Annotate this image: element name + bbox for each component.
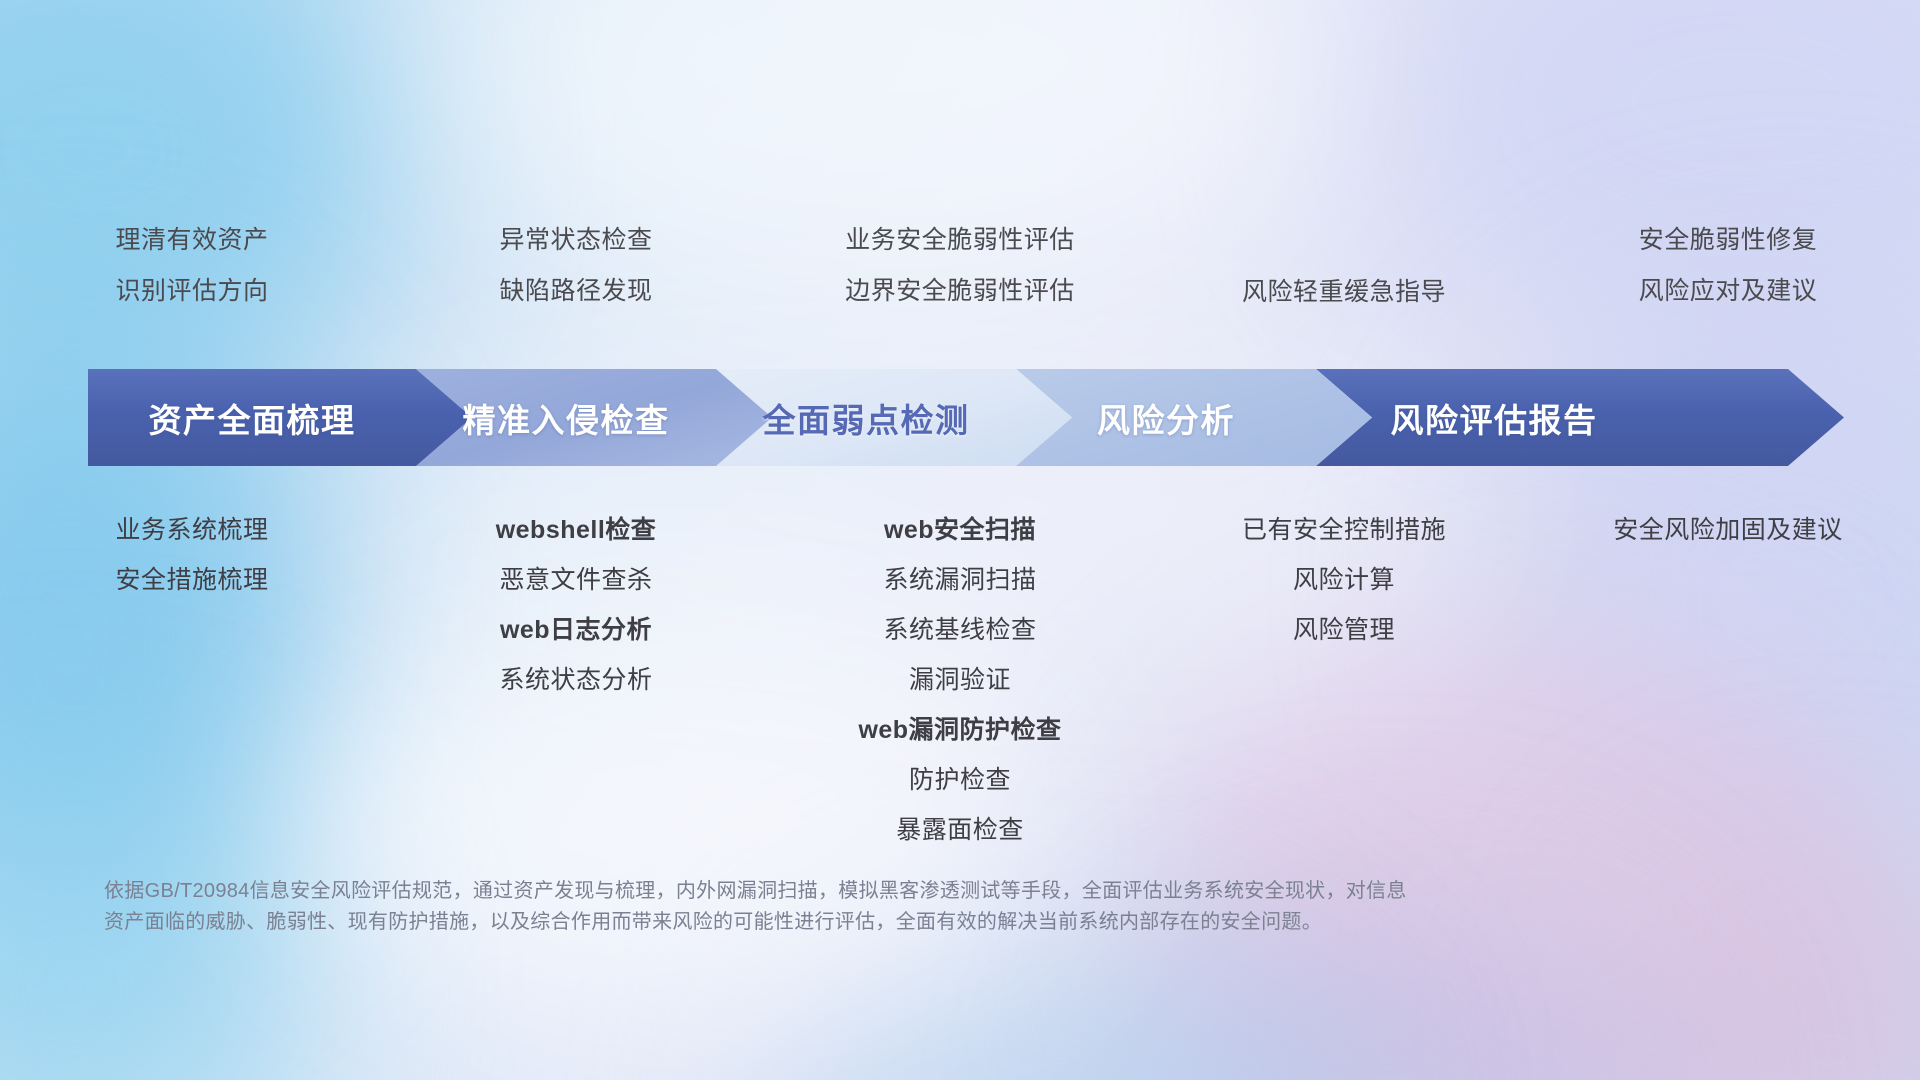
list-item: 安全风险加固及建议 [1613,518,1843,543]
footer-line-1: 依据GB/T20984信息安全风险评估规范，通过资产发现与梳理，内外网漏洞扫描，… [104,876,1604,907]
list-item: 风险计算 [1293,568,1395,593]
top-notes-weakness-detection: 业务安全脆弱性评估 边界安全脆弱性评估 [768,228,1152,305]
list-item: web安全扫描 [884,518,1036,543]
arrow-shape-asset-inventory[interactable] [88,369,472,466]
list-item: 恶意文件查杀 [499,568,652,593]
items-asset-inventory: 业务系统梳理 安全措施梳理 [0,518,384,868]
list-item: 暴露面检查 [896,818,1024,843]
top-notes-row: 理清有效资产 识别评估方向 异常状态检查 缺陷路径发现 业务安全脆弱性评估 边界… [0,228,1920,305]
top-notes-asset-inventory: 理清有效资产 识别评估方向 [0,228,384,305]
list-item: 系统基线检查 [883,618,1036,643]
note: 边界安全脆弱性评估 [845,279,1075,304]
list-item: 漏洞验证 [909,668,1011,693]
note: 缺陷路径发现 [499,279,652,304]
list-item: webshell检查 [496,518,657,543]
footer-description: 依据GB/T20984信息安全风险评估规范，通过资产发现与梳理，内外网漏洞扫描，… [104,876,1604,938]
process-arrow-band: 资产全面梳理 精准入侵检查 全面弱点检测 风险分析 风险评估报告 [88,369,1844,466]
list-item: 已有安全控制措施 [1242,518,1446,543]
process-diagram: 理清有效资产 识别评估方向 异常状态检查 缺陷路径发现 业务安全脆弱性评估 边界… [0,0,1920,1080]
list-item: 风险管理 [1293,618,1395,643]
list-item: 防护检查 [909,768,1011,793]
note: 理清有效资产 [115,228,268,253]
arrow-band-svg [88,369,1844,466]
bottom-lists-row: 业务系统梳理 安全措施梳理 webshell检查 恶意文件查杀 web日志分析 … [0,518,1920,868]
arrow-shape-risk-report[interactable] [1316,369,1844,466]
list-item: 系统状态分析 [499,668,652,693]
items-intrusion-check: webshell检查 恶意文件查杀 web日志分析 系统状态分析 [384,518,768,868]
items-weakness-detection: web安全扫描 系统漏洞扫描 系统基线检查 漏洞验证 web漏洞防护检查 防护检… [768,518,1152,868]
list-item: 安全措施梳理 [115,568,268,593]
items-risk-report: 安全风险加固及建议 [1536,518,1920,868]
top-notes-risk-report: 安全脆弱性修复 风险应对及建议 [1536,228,1920,305]
items-risk-analysis: 已有安全控制措施 风险计算 风险管理 [1152,518,1536,868]
list-item: 系统漏洞扫描 [883,568,1036,593]
note: 异常状态检查 [499,228,652,253]
note: 安全脆弱性修复 [1639,228,1818,253]
footer-line-2: 资产面临的威胁、脆弱性、现有防护措施，以及综合作用而带来风险的可能性进行评估，全… [104,907,1604,938]
note: 风险轻重缓急指导 [1242,280,1446,305]
list-item: web漏洞防护检查 [858,718,1061,743]
list-item: web日志分析 [500,618,652,643]
note: 识别评估方向 [115,279,268,304]
note: 风险应对及建议 [1639,279,1818,304]
note: 业务安全脆弱性评估 [845,228,1075,253]
top-notes-intrusion-check: 异常状态检查 缺陷路径发现 [384,228,768,305]
top-notes-risk-analysis: 风险轻重缓急指导 [1152,228,1536,305]
list-item: 业务系统梳理 [115,518,268,543]
